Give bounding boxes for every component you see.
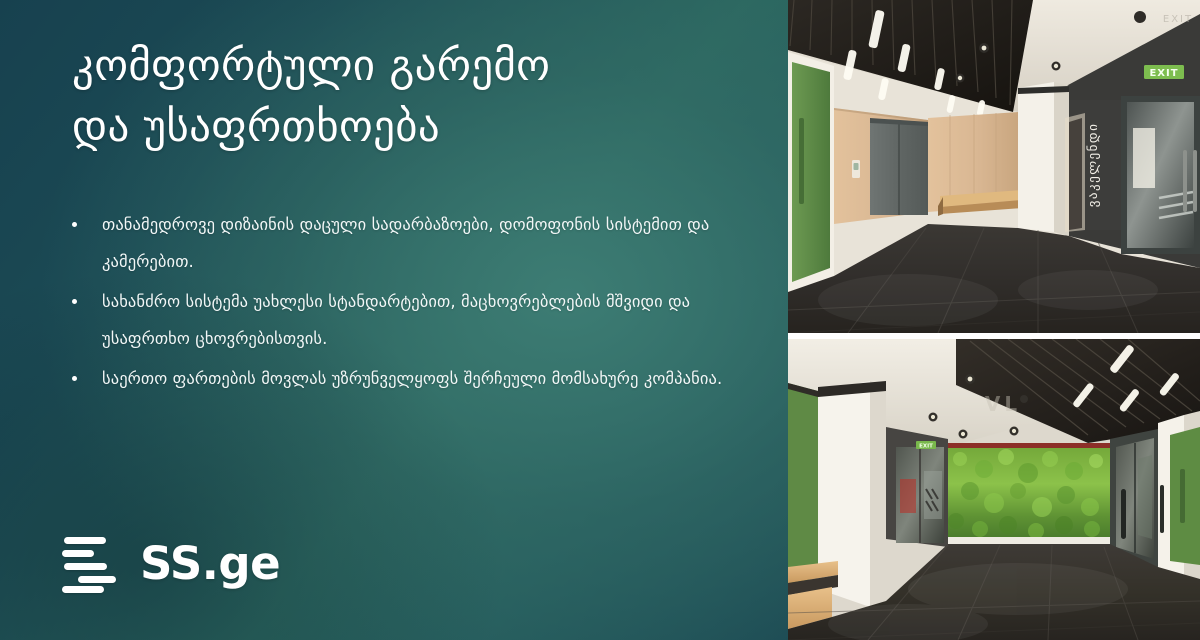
list-item: საერთო ფართების მოვლას უზრუნველყოფს შერჩ… xyxy=(66,360,778,397)
bullet-text: საერთო ფართების მოვლას უზრუნველყოფს შერჩ… xyxy=(102,360,778,397)
slide-content: კომფორტული გარემო და უსაფრთხოება თანამედ… xyxy=(0,0,788,640)
logo-bar xyxy=(64,563,107,570)
bullet-dot-icon xyxy=(72,299,77,304)
logo-bar xyxy=(64,537,106,544)
svg-text:EXIT: EXIT xyxy=(1163,14,1193,25)
logo-wordmark: SS.ge xyxy=(140,541,280,586)
bullet-dot-icon xyxy=(72,222,77,227)
list-item: თანამედროვე დიზაინის დაცული სადარბაზოები… xyxy=(66,206,778,280)
lobby-elevator-hall-illustration: ვაკელენდი EXIT EXIT xyxy=(788,0,1200,333)
ss-ge-bars-logo-icon xyxy=(62,534,118,592)
left-teal-panel: კომფორტული გარემო და უსაფრთხოება თანამედ… xyxy=(0,0,788,640)
list-item: სახანძრო სისტემა უახლესი სტანდარტებით, მ… xyxy=(66,283,778,357)
lobby-green-wall-photo: VL xyxy=(788,339,1200,640)
ss-ge-logo: SS.ge xyxy=(62,534,280,592)
logo-bar xyxy=(62,550,94,557)
svg-text:EXIT: EXIT xyxy=(919,444,933,450)
svg-text:VL: VL xyxy=(985,392,1021,416)
logo-bar xyxy=(78,576,116,583)
feature-bullet-list: თანამედროვე დიზაინის დაცული სადარბაზოები… xyxy=(66,206,778,400)
lobby-green-wall-illustration: VL xyxy=(788,339,1200,640)
slide-title-line-1: კომფორტული გარემო xyxy=(72,36,732,97)
bullet-dot-icon xyxy=(72,376,77,381)
bullet-text: სახანძრო სისტემა უახლესი სტანდარტებით, მ… xyxy=(102,283,778,357)
photo-column: ვაკელენდი EXIT EXIT xyxy=(788,0,1200,640)
lobby-elevator-hall-photo: ვაკელენდი EXIT EXIT xyxy=(788,0,1200,333)
svg-text:ვაკელენდი: ვაკელენდი xyxy=(1086,123,1101,208)
wall-sign-vertical-text: ვაკელენდი xyxy=(1086,123,1101,208)
slide-title: კომფორტული გარემო და უსაფრთხოება xyxy=(72,36,732,158)
presentation-slide: კომფორტული გარემო და უსაფრთხოება თანამედ… xyxy=(0,0,1200,640)
bullet-text: თანამედროვე დიზაინის დაცული სადარბაზოები… xyxy=(102,206,778,280)
svg-text:EXIT: EXIT xyxy=(1149,68,1178,79)
logo-bar xyxy=(62,586,104,593)
slide-title-line-2: და უსაფრთხოება xyxy=(72,97,732,158)
